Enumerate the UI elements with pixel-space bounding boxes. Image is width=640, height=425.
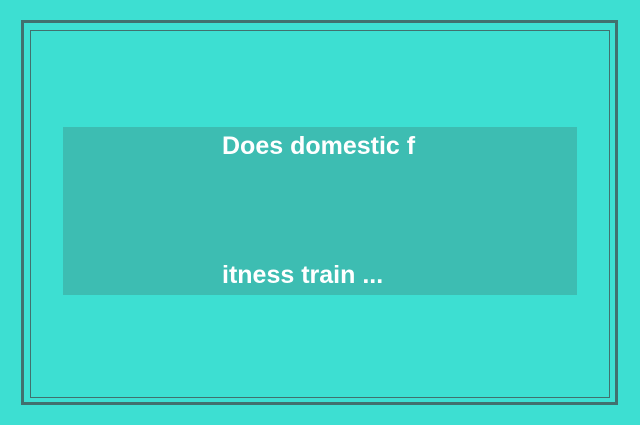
placeholder-canvas: Does domestic f itness train ... — [0, 0, 640, 425]
panel-title: Does domestic f itness train ... — [222, 39, 415, 383]
content-panel: Does domestic f itness train ... — [63, 127, 577, 295]
panel-title-line-1: Does domestic f — [222, 125, 415, 168]
panel-title-line-2: itness train ... — [222, 254, 415, 297]
